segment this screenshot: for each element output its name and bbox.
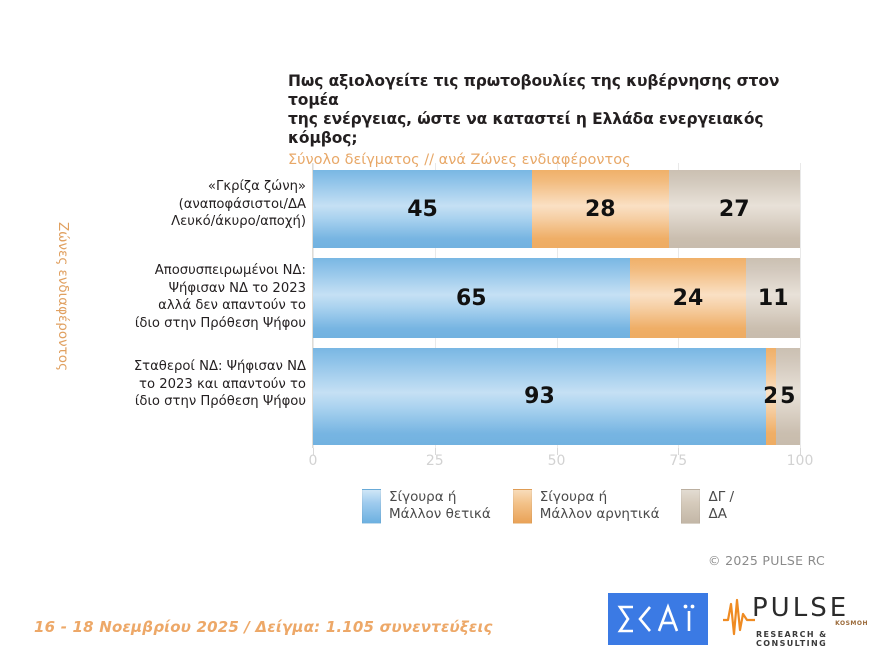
bar-segment-blue[interactable]: 65 <box>313 258 630 338</box>
logo-bar: PULSE KOSMOH RESEARCH & CONSULTING <box>608 592 870 646</box>
legend-label-line: Μάλλον αρνητικά <box>540 506 660 523</box>
bar-value-label: 24 <box>673 286 704 311</box>
category-label-stable-nd: Σταθεροί ΝΔ: Ψήφισαν ΝΔτο 2023 και απαντ… <box>78 358 306 411</box>
bar-segment-orange[interactable]: 28 <box>532 170 668 248</box>
legend-label-line: ΔΓ / <box>708 489 734 506</box>
bar-segment-orange[interactable]: 2 <box>766 348 776 445</box>
skai-logo <box>608 593 708 645</box>
x-axis-tick-label: 100 <box>787 453 814 469</box>
bar-value-label: 93 <box>524 384 555 409</box>
pulse-tagline: RESEARCH & CONSULTING <box>756 630 870 648</box>
category-label-line: «Γκρίζα ζώνη» <box>78 178 306 196</box>
x-axis-tick-label: 25 <box>426 453 444 469</box>
page-title-line-2: της ενέργειας, ώστε να καταστεί η Ελλάδα… <box>288 110 828 148</box>
copyright-text: © 2025 PULSE RC <box>708 553 825 568</box>
legend-label-line: ΔΑ <box>708 506 734 523</box>
category-label-line: Αποσυσπειρωμένοι ΝΔ: <box>78 262 306 280</box>
pulse-wordmark: PULSE <box>752 594 849 622</box>
bar-segment-grey[interactable]: 5 <box>776 348 800 445</box>
legend-label-line: Σίγουρα ή <box>389 489 491 506</box>
bar-segment-orange[interactable]: 24 <box>630 258 747 338</box>
x-axis-tick-label: 50 <box>548 453 566 469</box>
category-label-grey-zone: «Γκρίζα ζώνη»(αναποφάσιστοι/ΔΑΛευκό/άκυρ… <box>78 178 306 231</box>
category-label-line: Λευκό/άκυρο/αποχή) <box>78 213 306 231</box>
chart-title-block: Πως αξιολογείτε τις πρωτοβουλίες της κυβ… <box>288 72 828 170</box>
legend-label-line: Μάλλον θετικά <box>389 506 491 523</box>
gridline <box>800 163 801 448</box>
y-axis-caption-text: Ζώνες ενδιαφέροντος <box>55 221 71 370</box>
legend-label-line: Σίγουρα ή <box>540 489 660 506</box>
bar-row[interactable]: 9325 <box>313 348 800 445</box>
page-title-line-1: Πως αξιολογείτε τις πρωτοβουλίες της κυβ… <box>288 72 828 110</box>
bar-value-label: 27 <box>719 197 750 222</box>
fieldwork-note: 16 - 18 Νοεμβρίου 2025 / Δείγμα: 1.105 σ… <box>34 618 493 636</box>
legend-swatch-blue <box>362 489 381 524</box>
bar-row[interactable]: 452827 <box>313 170 800 248</box>
bar-segment-grey[interactable]: 27 <box>669 170 800 248</box>
bar-value-label: 28 <box>585 197 616 222</box>
category-label-line: ίδιο στην Πρόθεση Ψήφου <box>78 315 306 333</box>
bar-value-label: 11 <box>758 286 789 311</box>
bar-value-label: 65 <box>456 286 487 311</box>
pulse-wave-icon <box>722 598 756 640</box>
pulse-logo: PULSE KOSMOH RESEARCH & CONSULTING <box>722 592 870 646</box>
category-label-line: ίδιο στην Πρόθεση Ψήφου <box>78 393 306 411</box>
legend-swatch-orange <box>513 489 532 524</box>
bar-segment-grey[interactable]: 11 <box>746 258 800 338</box>
category-label-line: το 2023 και απαντούν το <box>78 376 306 394</box>
x-axis-tick-label: 0 <box>309 453 318 469</box>
category-label-line: Ψήφισαν ΝΔ το 2023 <box>78 280 306 298</box>
category-label-line: Σταθεροί ΝΔ: Ψήφισαν ΝΔ <box>78 358 306 376</box>
x-axis-tick-label: 75 <box>669 453 687 469</box>
bar-segment-blue[interactable]: 93 <box>313 348 766 445</box>
x-axis-tick-labels: 0255075100 <box>313 453 800 473</box>
category-label-line: αλλά δεν απαντούν το <box>78 297 306 315</box>
bar-value-label: 45 <box>407 197 438 222</box>
category-label-line: (αναποφάσιστοι/ΔΑ <box>78 196 306 214</box>
poll-chart-slide: Πως αξιολογείτε τις πρωτοβουλίες της κυβ… <box>0 0 880 660</box>
bar-segment-blue[interactable]: 45 <box>313 170 532 248</box>
bar-row[interactable]: 652411 <box>313 258 800 338</box>
legend-label: Σίγουρα ήΜάλλον θετικά <box>389 489 491 522</box>
legend-item[interactable]: Σίγουρα ήΜάλλον αρνητικά <box>513 489 660 524</box>
legend-swatch-grey <box>681 489 700 524</box>
legend-label: ΔΓ /ΔΑ <box>708 489 734 522</box>
bar-value-label: 5 <box>780 384 795 409</box>
pulse-kosmoh-text: KOSMOH <box>835 620 868 627</box>
legend-item[interactable]: ΔΓ /ΔΑ <box>681 489 734 524</box>
category-label-disengaged-nd: Αποσυσπειρωμένοι ΝΔ:Ψήφισαν ΝΔ το 2023αλ… <box>78 262 306 332</box>
chart-legend: Σίγουρα ήΜάλλον θετικάΣίγουρα ήΜάλλον αρ… <box>362 489 756 524</box>
legend-item[interactable]: Σίγουρα ήΜάλλον θετικά <box>362 489 491 524</box>
plot-area: PULSE RESEARCH & CONSULTING 452827652411… <box>313 163 800 448</box>
skai-wordmark-icon <box>616 602 700 636</box>
y-axis-caption: Ζώνες ενδιαφέροντος <box>55 181 71 411</box>
legend-label: Σίγουρα ήΜάλλον αρνητικά <box>540 489 660 522</box>
